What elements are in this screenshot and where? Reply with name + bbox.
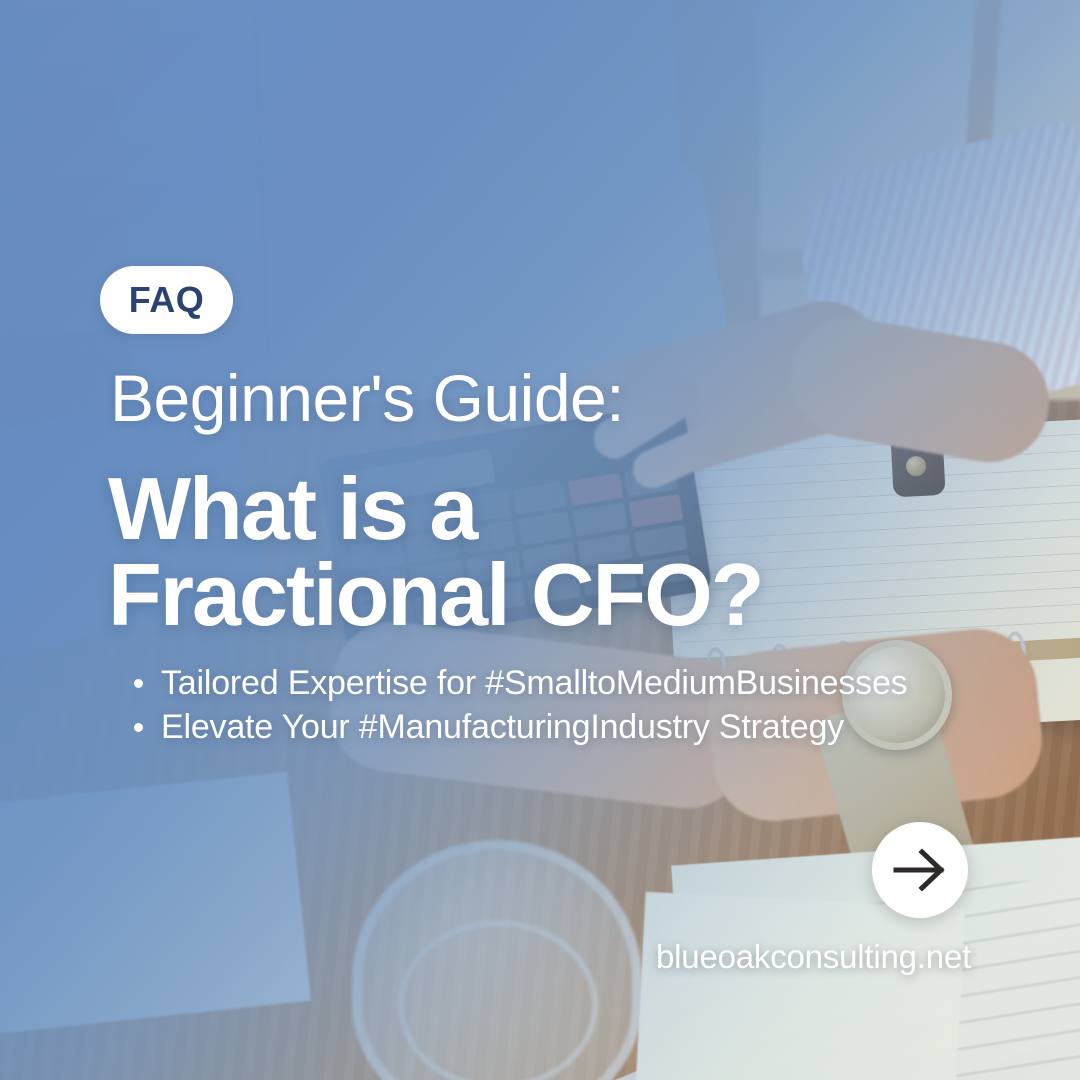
content-layer: FAQ Beginner's Guide: What is a Fraction… — [0, 0, 1080, 1080]
faq-badge: FAQ — [100, 266, 233, 334]
kicker-text: Beginner's Guide: — [110, 364, 624, 433]
page-title: What is a Fractional CFO? — [108, 466, 763, 638]
faq-badge-label: FAQ — [129, 282, 205, 318]
benefits-list: Tailored Expertise for #SmalltoMediumBus… — [130, 662, 908, 749]
headline-line-1: What is a — [108, 459, 476, 558]
headline-line-2: Fractional CFO? — [108, 552, 763, 638]
cta-arrow-button[interactable] — [872, 822, 968, 918]
website-url[interactable]: blueoakconsulting.net — [656, 938, 971, 976]
list-item: Tailored Expertise for #SmalltoMediumBus… — [130, 662, 908, 706]
social-post-canvas: FAQ Beginner's Guide: What is a Fraction… — [0, 0, 1080, 1080]
arrow-right-icon — [891, 848, 949, 892]
list-item: Elevate Your #ManufacturingIndustry Stra… — [130, 706, 908, 750]
